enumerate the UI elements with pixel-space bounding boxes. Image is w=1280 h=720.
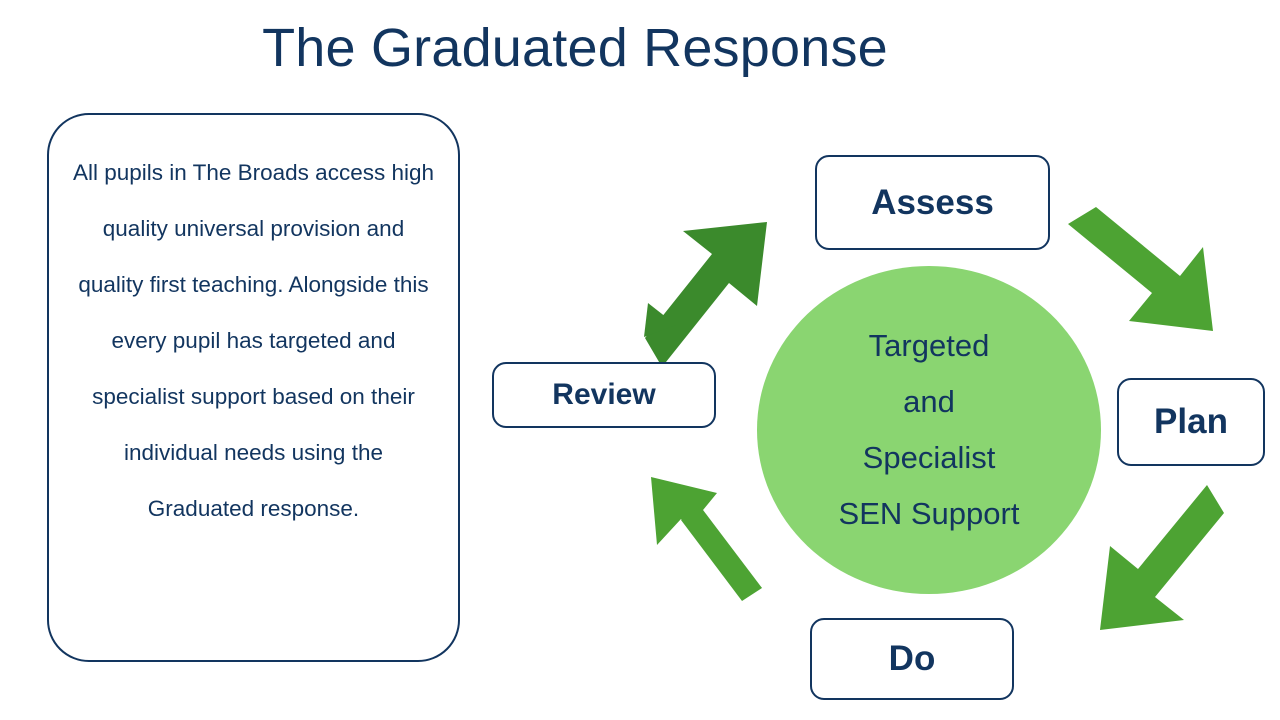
info-panel-text: All pupils in The Broads access high qua… (71, 145, 436, 537)
arrow-review-to-assess-icon (644, 222, 767, 367)
center-circle-label: Targeted and Specialist SEN Support (839, 318, 1020, 541)
page-title: The Graduated Response (0, 16, 1150, 81)
info-panel: All pupils in The Broads access high qua… (47, 113, 460, 662)
stage-label-do: Do (889, 639, 936, 679)
stage-box-plan[interactable]: Plan (1117, 378, 1265, 466)
stage-box-do[interactable]: Do (810, 618, 1014, 700)
stage-box-review[interactable]: Review (492, 362, 716, 428)
stage-label-assess: Assess (871, 183, 994, 223)
stage-box-assess[interactable]: Assess (815, 155, 1050, 250)
arrow-do-to-review-icon (651, 477, 762, 601)
slide-canvas: The Graduated Response All pupils in The… (0, 0, 1280, 720)
arrow-plan-to-do-icon (1100, 485, 1224, 630)
stage-label-plan: Plan (1154, 402, 1228, 442)
arrow-assess-to-plan-icon (1068, 207, 1213, 331)
stage-label-review: Review (552, 378, 655, 412)
center-circle: Targeted and Specialist SEN Support (757, 266, 1101, 594)
